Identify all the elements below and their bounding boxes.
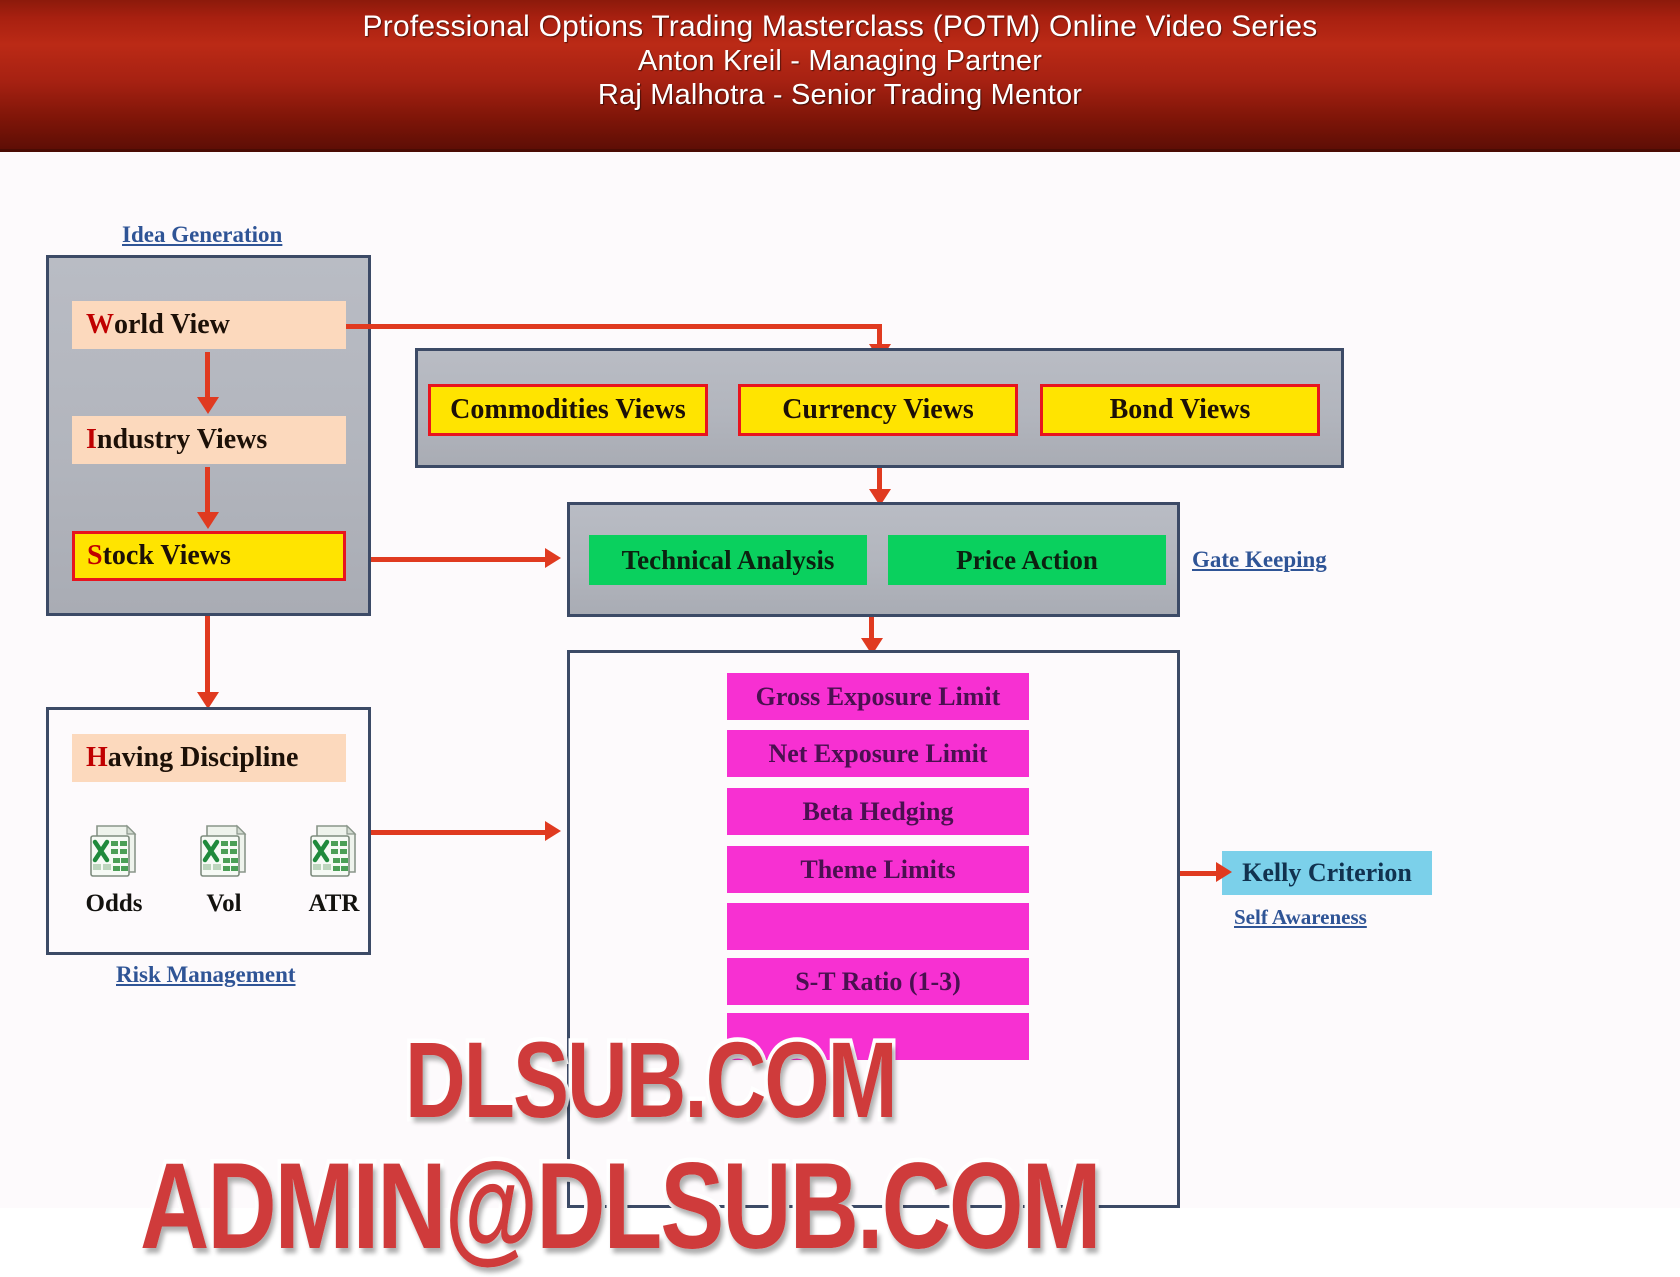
node-stock-views[interactable]: Stock Views (72, 531, 346, 581)
risk-tool-atr[interactable]: ATR (298, 822, 370, 918)
node-price-action[interactable]: Price Action (888, 535, 1166, 585)
risk-tool-vol[interactable]: Vol (188, 822, 260, 918)
node-having-discipline[interactable]: Having Discipline (72, 734, 346, 782)
arrowhead-industry-to-stock (197, 512, 219, 529)
watermark-dlsub: DLSUB.COM (405, 1018, 896, 1142)
node-stock-views-initial: S (87, 540, 103, 572)
arrow-worldview-to-industry (205, 352, 210, 398)
node-technical-analysis[interactable]: Technical Analysis (589, 535, 867, 585)
node-bond-views[interactable]: Bond Views (1040, 384, 1320, 436)
arrowhead-worldview-to-industry (197, 397, 219, 414)
arrowhead-riskmgmt-to-risklimits (545, 821, 561, 841)
node-technical-analysis-label: Technical Analysis (622, 545, 835, 576)
header-banner: Professional Options Trading Masterclass… (0, 0, 1680, 152)
arrowhead-stockviews-to-gatekeeping (545, 548, 561, 568)
risk-tool-atr-label: ATR (298, 890, 370, 918)
node-kelly-criterion-label: Kelly Criterion (1242, 858, 1412, 888)
diagram-canvas: Idea Generation World View Industry View… (0, 152, 1680, 1208)
label-self-awareness: Self Awareness (1234, 905, 1367, 930)
node-commodities-views[interactable]: Commodities Views (428, 384, 708, 436)
arrow-riskmgmt-to-risklimits (371, 830, 546, 835)
node-beta-hedging[interactable]: Beta Hedging (727, 788, 1029, 835)
node-bond-views-label: Bond Views (1110, 394, 1251, 426)
header-title-line-1: Professional Options Trading Masterclass… (363, 10, 1318, 44)
label-risk-management: Risk Management (116, 962, 296, 988)
watermark-admin-dlsub: ADMIN@DLSUB.COM (140, 1137, 1100, 1277)
header-title-line-2: Anton Kreil - Managing Partner (638, 44, 1042, 78)
risk-tool-vol-label: Vol (188, 890, 260, 918)
risk-tools-group: Odds (78, 822, 370, 918)
header-title-line-3: Raj Malhotra - Senior Trading Mentor (598, 78, 1082, 112)
node-theme-limits-label: Theme Limits (800, 855, 955, 885)
excel-spreadsheet-icon (193, 822, 255, 884)
node-risk-limit-occluded-strip (727, 903, 1029, 950)
node-world-view-label: orld View (114, 309, 230, 341)
node-currency-views-label: Currency Views (782, 394, 974, 426)
excel-spreadsheet-icon (303, 822, 365, 884)
node-currency-views[interactable]: Currency Views (738, 384, 1018, 436)
excel-spreadsheet-icon (83, 822, 145, 884)
node-having-discipline-initial: H (86, 742, 108, 774)
arrow-industry-to-stock (205, 467, 210, 513)
node-beta-hedging-label: Beta Hedging (803, 797, 954, 827)
node-world-view-initial: W (86, 309, 114, 341)
node-net-exposure-limit[interactable]: Net Exposure Limit (727, 730, 1029, 777)
node-gross-exposure-limit-label: Gross Exposure Limit (756, 682, 1001, 712)
node-industry-views-label: ndustry Views (97, 424, 267, 456)
node-stock-views-label: tock Views (103, 540, 231, 572)
node-net-exposure-limit-label: Net Exposure Limit (768, 739, 987, 769)
node-st-ratio[interactable]: S-T Ratio (1-3) (727, 958, 1029, 1005)
risk-tool-odds-label: Odds (78, 890, 150, 918)
risk-tool-odds[interactable]: Odds (78, 822, 150, 918)
node-price-action-label: Price Action (956, 545, 1098, 576)
node-world-view[interactable]: World View (72, 301, 346, 349)
node-gross-exposure-limit[interactable]: Gross Exposure Limit (727, 673, 1029, 720)
label-gate-keeping: Gate Keeping (1192, 547, 1327, 573)
arrow-worldview-to-macro-horizontal (346, 324, 881, 329)
node-commodities-views-label: Commodities Views (450, 394, 686, 426)
arrow-stockviews-to-gatekeeping (371, 557, 546, 562)
arrowhead-risklimits-to-kelly (1216, 862, 1232, 882)
arrow-ideagen-to-riskmgmt (205, 616, 210, 697)
arrow-risklimits-to-kelly (1180, 871, 1220, 876)
label-idea-generation: Idea Generation (122, 222, 282, 248)
node-having-discipline-label: aving Discipline (108, 742, 299, 774)
node-industry-views-initial: I (86, 424, 97, 456)
node-kelly-criterion[interactable]: Kelly Criterion (1222, 851, 1432, 895)
node-st-ratio-label: S-T Ratio (1-3) (795, 967, 961, 997)
node-theme-limits[interactable]: Theme Limits (727, 846, 1029, 893)
node-industry-views[interactable]: Industry Views (72, 416, 346, 464)
